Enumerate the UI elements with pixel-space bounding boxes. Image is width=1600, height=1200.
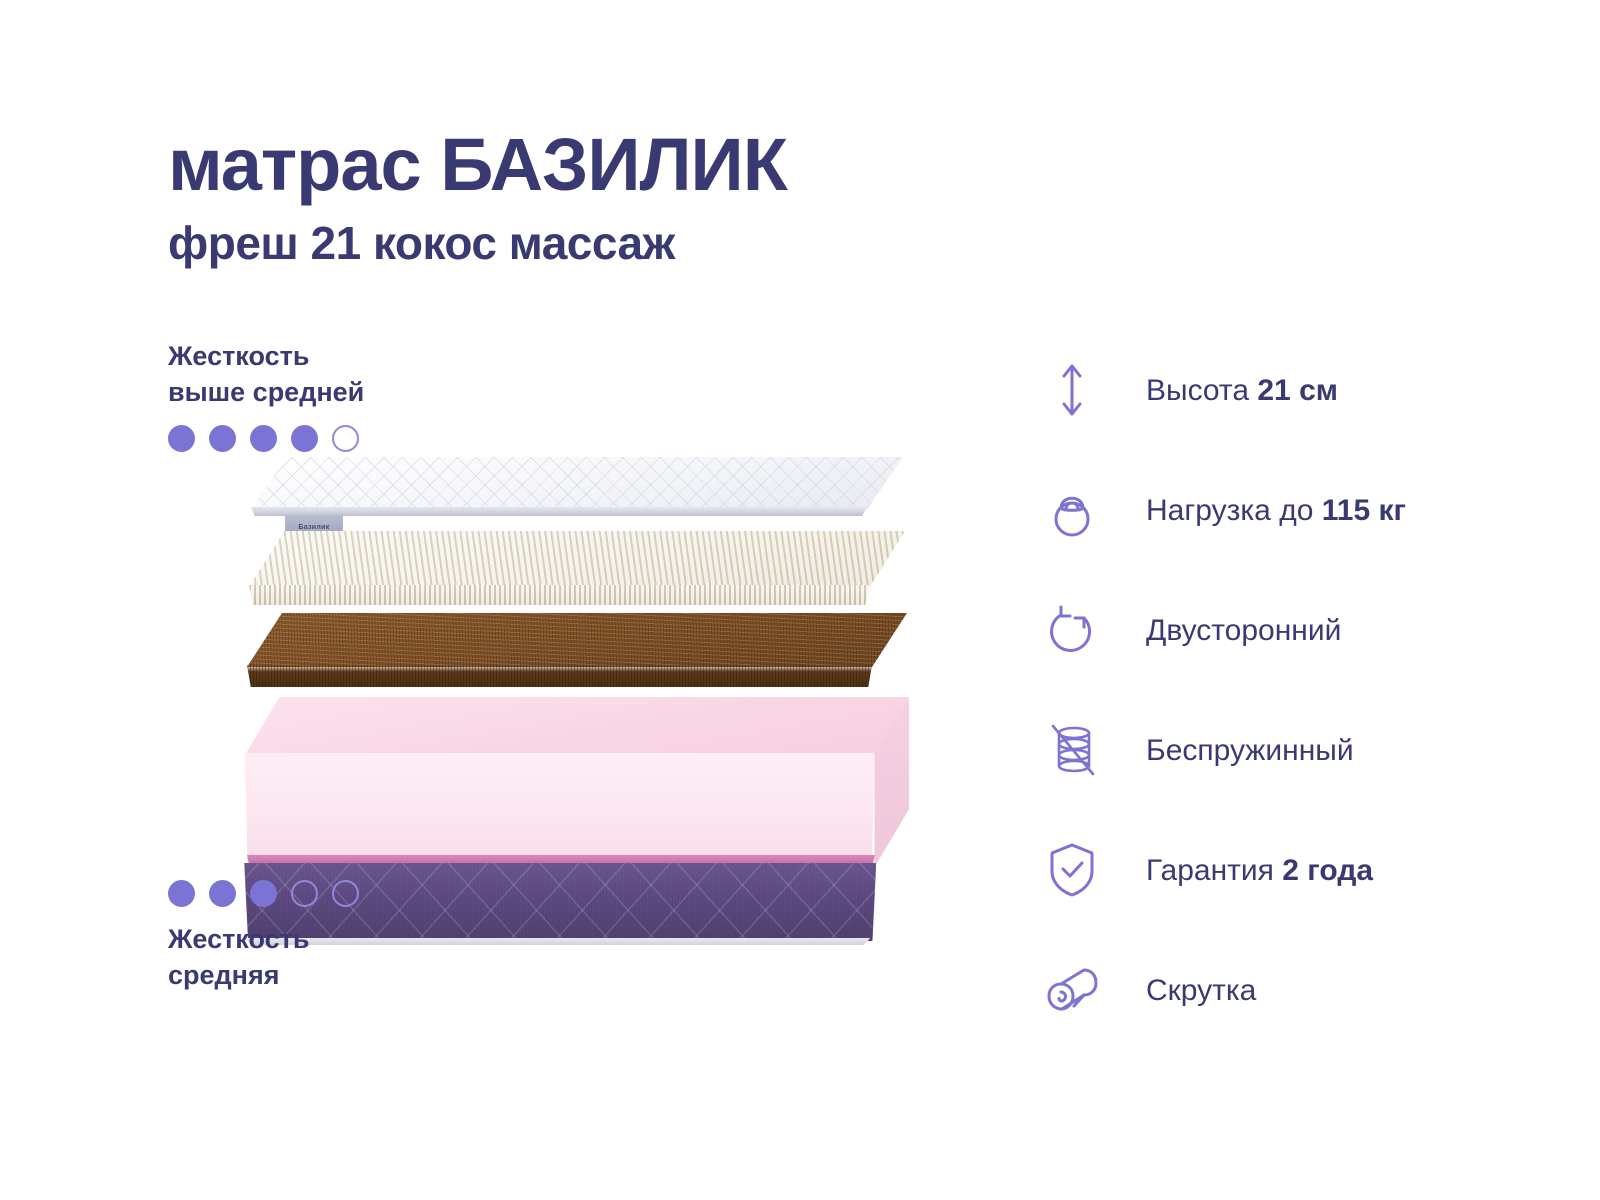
- feature-height-normal: Высота: [1146, 374, 1257, 407]
- firmness-dot-3: [250, 425, 277, 452]
- foam-core-layer: [245, 697, 909, 869]
- shield-check-icon: [1040, 838, 1104, 902]
- firmness-dot-4: [291, 880, 318, 907]
- firmness-dot-3: [250, 880, 277, 907]
- feature-row-warranty: Гарантия 2 года: [1040, 810, 1540, 930]
- firmness-top-dots: [168, 425, 364, 452]
- infographic-canvas: матрас БАЗИЛИК фреш 21 кокос массаж Жест…: [0, 0, 1600, 1200]
- roll-icon: [1040, 958, 1104, 1022]
- massage-side-edge: [249, 585, 870, 605]
- feature-list: Высота 21 см Нагрузка до 115 кг: [1040, 330, 1540, 1050]
- feature-row-height: Высота 21 см: [1040, 330, 1540, 450]
- feature-load-normal: Нагрузка до: [1146, 494, 1322, 527]
- firmness-top: Жесткость выше средней: [168, 338, 364, 452]
- crossed-spring-icon: [1040, 718, 1104, 782]
- feature-height-bold: 21 см: [1257, 374, 1338, 407]
- feature-roll-normal: Скрутка: [1146, 974, 1256, 1007]
- coconut-coir-layer: [247, 613, 907, 691]
- firmness-bottom-dots: [168, 880, 359, 907]
- massage-top-surface: [249, 531, 905, 587]
- firmness-bottom-label-line1: Жесткость: [168, 921, 359, 957]
- firmness-dot-1: [168, 425, 195, 452]
- feature-warranty-normal: Гарантия: [1146, 854, 1282, 887]
- firmness-dot-2: [209, 425, 236, 452]
- firmness-dot-5: [332, 880, 359, 907]
- product-title: матрас БАЗИЛИК: [168, 128, 787, 202]
- feature-label-two-sided: Двусторонний: [1146, 614, 1341, 647]
- foam-top-surface: [245, 697, 909, 755]
- massage-foam-layer: [249, 531, 905, 607]
- feature-row-two-sided: Двусторонний: [1040, 570, 1540, 690]
- firmness-dot-5: [332, 425, 359, 452]
- firmness-dot-2: [209, 880, 236, 907]
- firmness-top-label-line1: Жесткость: [168, 338, 364, 374]
- feature-row-load: Нагрузка до 115 кг: [1040, 450, 1540, 570]
- rotate-icon: [1040, 598, 1104, 662]
- coir-top-surface: [247, 613, 907, 667]
- firmness-dot-1: [168, 880, 195, 907]
- vertical-arrow-icon: [1040, 358, 1104, 422]
- mattress-layers-illustration: Базилик: [245, 455, 915, 875]
- feature-row-springless: Беспружинный: [1040, 690, 1540, 810]
- feature-load-bold: 115 кг: [1322, 494, 1406, 527]
- firmness-bottom: Жесткость средняя: [168, 880, 359, 994]
- quilted-cover-layer: Базилик: [251, 457, 903, 525]
- product-subtitle: фреш 21 кокос массаж: [168, 220, 787, 266]
- page-title: матрас БАЗИЛИК фреш 21 кокос массаж: [168, 128, 787, 266]
- feature-label-load: Нагрузка до 115 кг: [1146, 494, 1406, 527]
- feature-two-sided-normal: Двусторонний: [1146, 614, 1341, 647]
- feature-warranty-bold: 2 года: [1282, 854, 1373, 887]
- cover-side-edge: [251, 507, 867, 516]
- kettlebell-icon: [1040, 478, 1104, 542]
- feature-label-roll: Скрутка: [1146, 974, 1256, 1007]
- feature-label-springless: Беспружинный: [1146, 734, 1354, 767]
- firmness-top-label-line2: выше средней: [168, 374, 364, 410]
- foam-front-face: [245, 753, 874, 867]
- firmness-dot-4: [291, 425, 318, 452]
- feature-label-warranty: Гарантия 2 года: [1146, 854, 1373, 887]
- firmness-bottom-label-line2: средняя: [168, 957, 359, 993]
- feature-springless-normal: Беспружинный: [1146, 734, 1354, 767]
- coir-side-edge: [247, 665, 872, 687]
- feature-row-roll: Скрутка: [1040, 930, 1540, 1050]
- feature-label-height: Высота 21 см: [1146, 374, 1338, 407]
- cover-top-surface: [251, 457, 903, 509]
